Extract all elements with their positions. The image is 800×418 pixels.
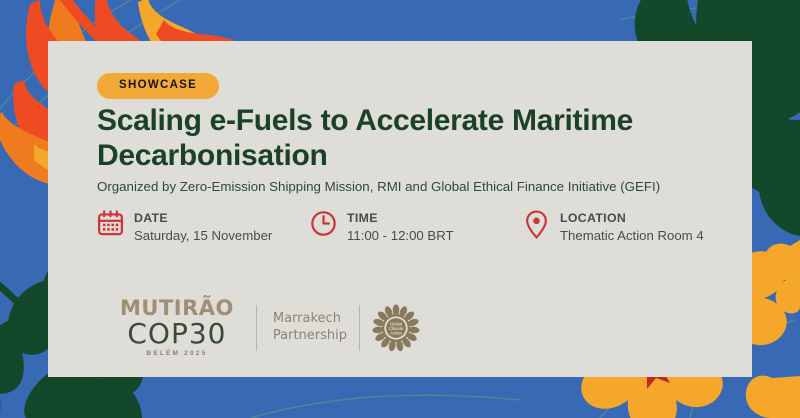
event-organizer: Organized by Zero-Emission Shipping Miss… (97, 178, 757, 195)
event-banner: SHOWCASE Scaling e-Fuels to Accelerate M… (0, 0, 800, 418)
meta-value-time: 11:00 - 12:00 BRT (347, 228, 454, 243)
meta-item-time: TIME 11:00 - 12:00 BRT (310, 209, 523, 245)
marrakech-partnership-logo: Marrakech Partnership (273, 311, 347, 344)
meta-item-date: DATE Saturday, 15 November (97, 209, 310, 245)
meta-item-location: LOCATION Thematic Action Room 4 (523, 209, 757, 245)
belem-2025-tagline: BELÉM 2025 (120, 351, 234, 358)
mutirao-wordmark: MUTIRÃO (120, 298, 234, 319)
mutirao-cop30-logo: MUTIRÃO COP30 BELÉM 2025 (120, 298, 234, 358)
seal-line-3: Action (390, 330, 402, 335)
content-panel: SHOWCASE Scaling e-Fuels to Accelerate M… (48, 41, 752, 377)
logo-row: MUTIRÃO COP30 BELÉM 2025 Marrakech Partn… (120, 298, 420, 358)
event-meta: DATE Saturday, 15 November TIME 11:00 - … (97, 209, 757, 245)
marrakech-line-2: Partnership (273, 328, 347, 345)
global-climate-action-seal-icon: Global Climate Action (372, 304, 420, 352)
calendar-icon (97, 210, 124, 240)
meta-value-date: Saturday, 15 November (134, 228, 272, 243)
logo-divider-2 (359, 305, 360, 351)
meta-label-location: LOCATION (560, 211, 626, 225)
logo-divider-1 (256, 305, 257, 351)
meta-value-location: Thematic Action Room 4 (560, 228, 704, 243)
marrakech-line-1: Marrakech (273, 311, 347, 328)
meta-label-date: DATE (134, 211, 168, 225)
location-pin-icon (523, 210, 550, 240)
clock-icon (310, 210, 337, 240)
meta-label-time: TIME (347, 211, 378, 225)
event-title: Scaling e-Fuels to Accelerate Maritime D… (97, 104, 707, 174)
showcase-badge: SHOWCASE (97, 73, 219, 99)
cop30-wordmark: COP30 (120, 320, 234, 348)
